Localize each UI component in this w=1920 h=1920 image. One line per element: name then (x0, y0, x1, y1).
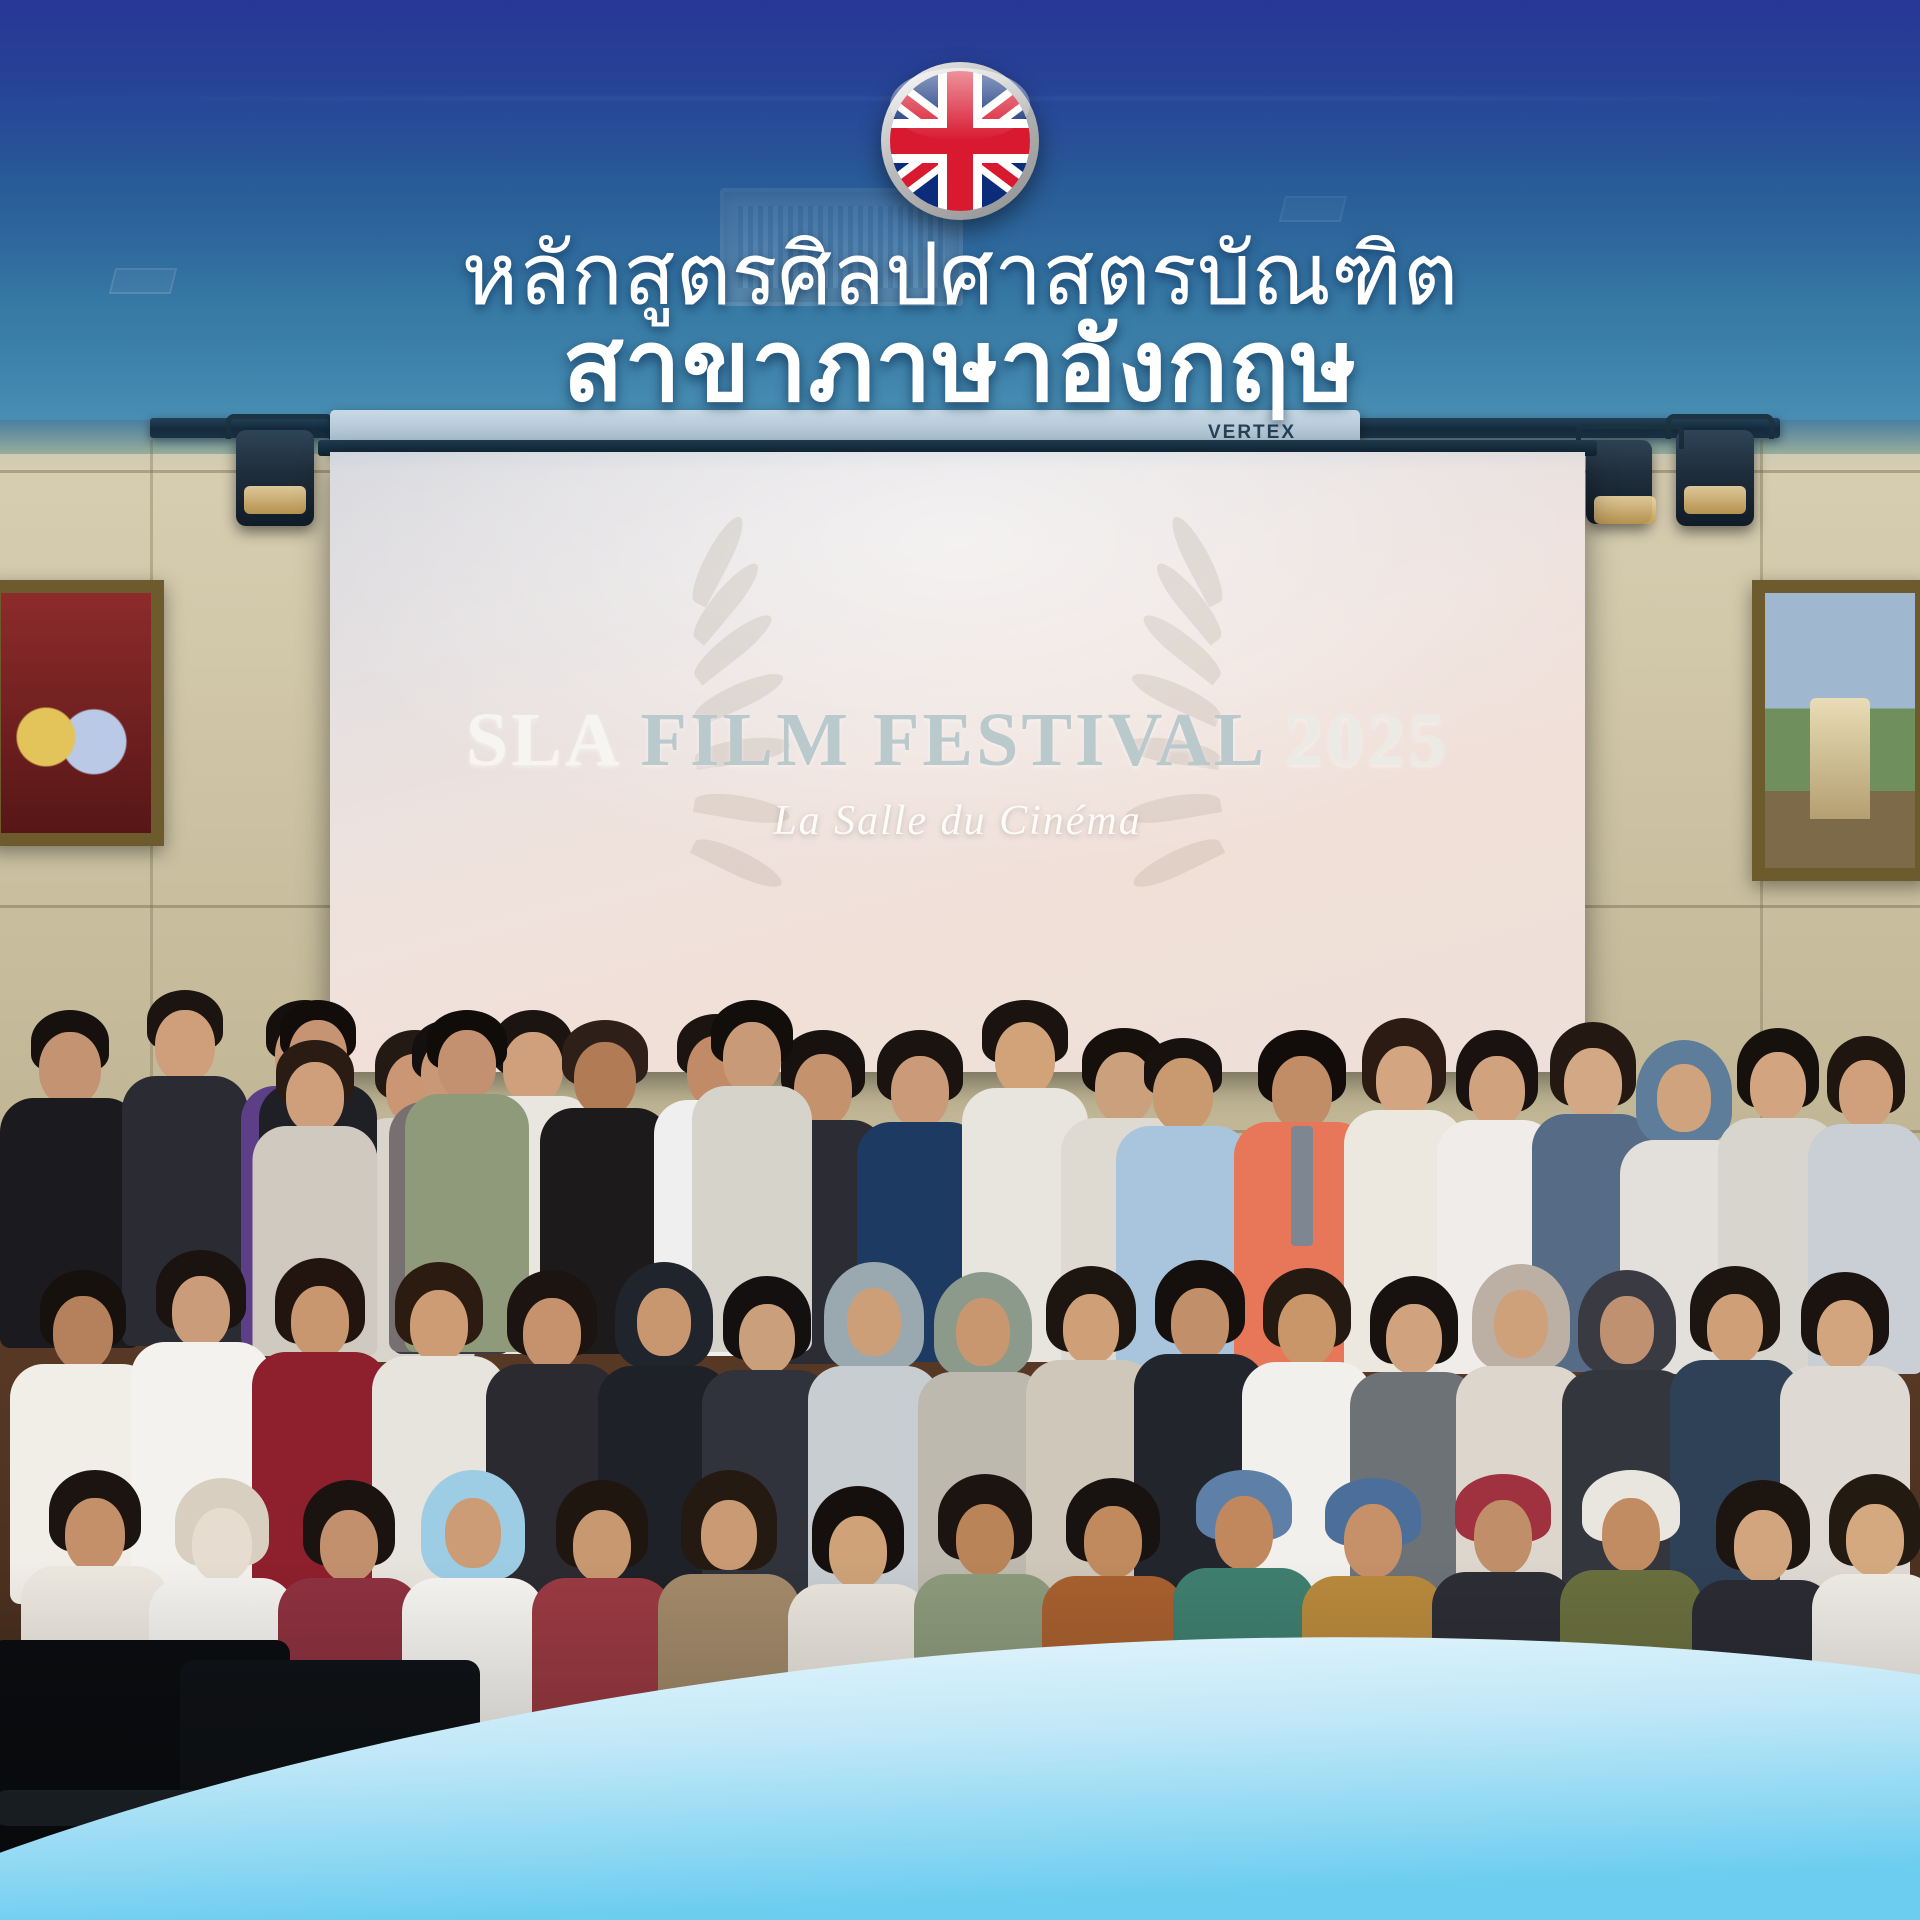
necktie (1291, 1126, 1313, 1246)
wave-shape (0, 1637, 1920, 1920)
headline-block: หลักสูตรศิลปศาสตรบัณฑิต สาขาภาษาอังกฤษ (0, 232, 1920, 419)
bottom-wave-decoration (0, 1560, 1920, 1920)
headline-line-1: หลักสูตรศิลปศาสตรบัณฑิต (0, 232, 1920, 320)
headline-line-2: สาขาภาษาอังกฤษ (0, 314, 1920, 419)
union-jack-flag-icon (881, 62, 1039, 220)
union-jack-flag-inner (890, 71, 1030, 211)
poster-canvas: VERTEX (0, 0, 1920, 1920)
